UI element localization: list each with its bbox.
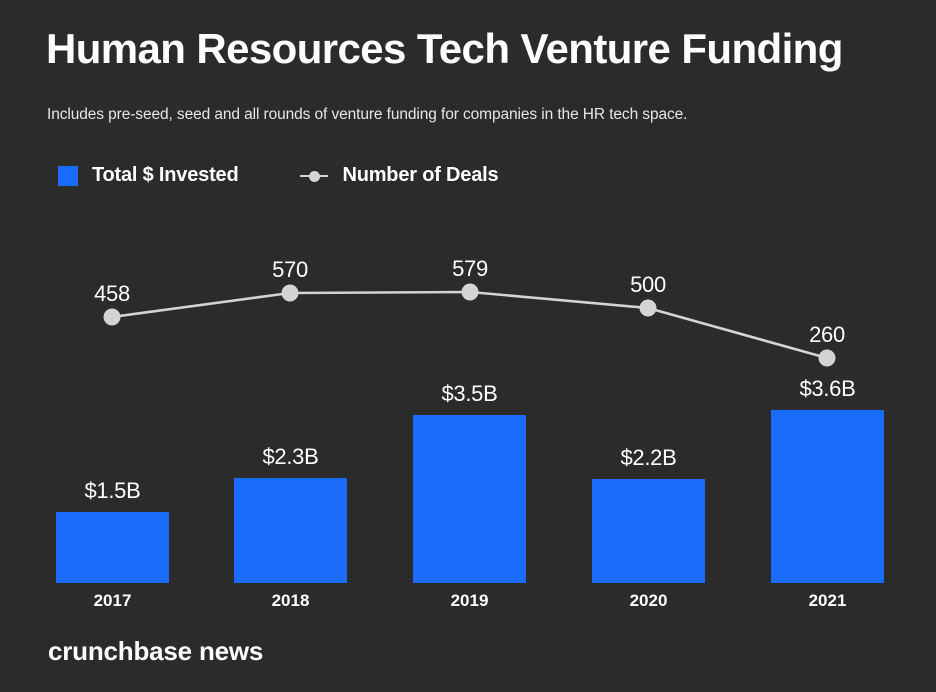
- x-axis-tick-2021: 2021: [771, 591, 884, 611]
- deals-point-2020[interactable]: [640, 300, 657, 317]
- deals-value-label-2020: 500: [588, 272, 708, 298]
- bar-value-label-2019: $3.5B: [413, 381, 526, 407]
- bar-2018[interactable]: [234, 478, 347, 583]
- deals-point-2019[interactable]: [462, 284, 479, 301]
- deals-point-2017[interactable]: [104, 309, 121, 326]
- x-axis-tick-2019: 2019: [413, 591, 526, 611]
- x-axis-tick-2018: 2018: [234, 591, 347, 611]
- plot-area: $1.5B4582017$2.3B5702018$3.5B5792019$2.2…: [0, 0, 936, 692]
- bar-value-label-2018: $2.3B: [234, 444, 347, 470]
- deals-point-2018[interactable]: [282, 285, 299, 302]
- x-axis-tick-2017: 2017: [56, 591, 169, 611]
- chart-canvas: Human Resources Tech Venture Funding Inc…: [0, 0, 936, 692]
- bar-2017[interactable]: [56, 512, 169, 583]
- bar-value-label-2020: $2.2B: [592, 445, 705, 471]
- deals-value-label-2017: 458: [52, 281, 172, 307]
- deals-value-label-2021: 260: [767, 322, 887, 348]
- deals-line-path: [112, 292, 827, 358]
- bar-2019[interactable]: [413, 415, 526, 583]
- bar-value-label-2017: $1.5B: [56, 478, 169, 504]
- deals-point-2021[interactable]: [819, 350, 836, 367]
- deals-value-label-2018: 570: [230, 257, 350, 283]
- x-axis-tick-2020: 2020: [592, 591, 705, 611]
- bar-2021[interactable]: [771, 410, 884, 583]
- bar-value-label-2021: $3.6B: [771, 376, 884, 402]
- brand-wordmark: crunchbase news: [48, 636, 263, 667]
- deals-value-label-2019: 579: [410, 256, 530, 282]
- bar-2020[interactable]: [592, 479, 705, 583]
